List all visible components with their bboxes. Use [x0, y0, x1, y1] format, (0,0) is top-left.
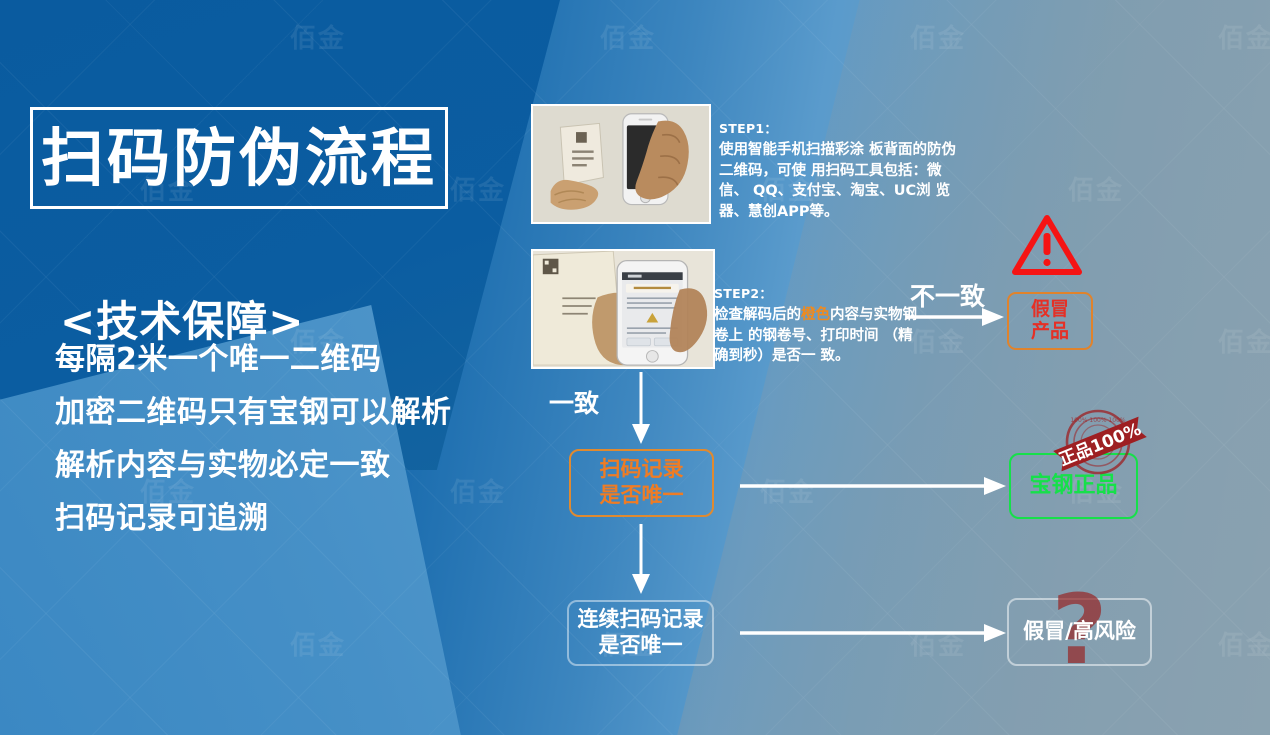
arrow-down-to-continuous-unique: [626, 524, 656, 596]
step2-body: 检查解码后的橙色内容与实物钢卷上 的钢卷号、打印时间 （精确到秒）是否一 致。: [714, 307, 917, 364]
result-box-fake-product-label: 假冒 产品: [1031, 299, 1069, 343]
step1-photo-illustration: [533, 106, 709, 222]
step2-description: STEP2： 检查解码后的橙色内容与实物钢卷上 的钢卷号、打印时间 （精确到秒）…: [714, 283, 919, 367]
decision-box-scan-record-unique-label: 扫码记录 是否唯一: [600, 457, 684, 508]
slide-canvas: 佰金 佰金 佰金 佰金 佰金 佰金 佰金 佰金 佰金 佰金 佰金 佰金 佰金 佰…: [0, 0, 1270, 735]
step2-body-highlight: 橙色: [801, 307, 830, 323]
tech-guarantee-heading: <技术保障>: [60, 288, 304, 349]
step2-photo-illustration: [533, 251, 713, 367]
step2-body-part1: 检查解码后的: [714, 307, 801, 323]
page-title: 扫码防伪流程: [41, 127, 437, 190]
stamp-ring-text: 100% 100% 100%: [1070, 417, 1126, 424]
result-box-fake-or-high-risk-label: 假冒/高风险: [1023, 619, 1136, 645]
genuine-100-percent-stamp-icon: 100% 100% 100% 正品100%: [1046, 406, 1154, 484]
step1-body: 使用智能手机扫描彩涂 板背面的防伪二维码，可使 用扫码工具包括：微信、 QQ、支…: [719, 142, 956, 220]
step1-photo: [531, 104, 711, 224]
result-box-fake-or-high-risk[interactable]: ? 假冒/高风险: [1007, 598, 1152, 666]
step1-label: STEP1：: [719, 118, 969, 137]
step2-photo: [531, 249, 715, 369]
list-item: 每隔2米一个唯一二维码: [55, 345, 505, 375]
arrow-unique-to-genuine: [740, 475, 1008, 497]
step2-label: STEP2：: [714, 283, 919, 302]
list-item: 扫码记录可追溯: [55, 504, 505, 534]
decision-box-continuous-record-unique[interactable]: 连续扫码记录 是否唯一: [567, 600, 714, 666]
list-item: 解析内容与实物必定一致: [55, 451, 505, 481]
arrow-label-inconsistent: 不一致: [910, 277, 985, 313]
result-box-fake-product[interactable]: 假冒 产品: [1007, 292, 1093, 350]
decision-box-scan-record-unique[interactable]: 扫码记录 是否唯一: [569, 449, 714, 517]
list-item: 加密二维码只有宝钢可以解析: [55, 398, 505, 428]
arrow-continuous-to-risk: [740, 622, 1008, 644]
arrow-label-consistent: 一致: [549, 384, 599, 420]
page-title-box: 扫码防伪流程: [30, 107, 448, 209]
step1-description: STEP1： 使用智能手机扫描彩涂 板背面的防伪二维码，可使 用扫码工具包括：微…: [719, 118, 969, 222]
decision-box-continuous-record-unique-label: 连续扫码记录 是否唯一: [578, 607, 704, 658]
arrow-down-to-scan-unique: [626, 372, 656, 446]
warning-triangle-icon: [1011, 213, 1083, 277]
tech-guarantee-list: 每隔2米一个唯一二维码 加密二维码只有宝钢可以解析 解析内容与实物必定一致 扫码…: [55, 345, 505, 557]
